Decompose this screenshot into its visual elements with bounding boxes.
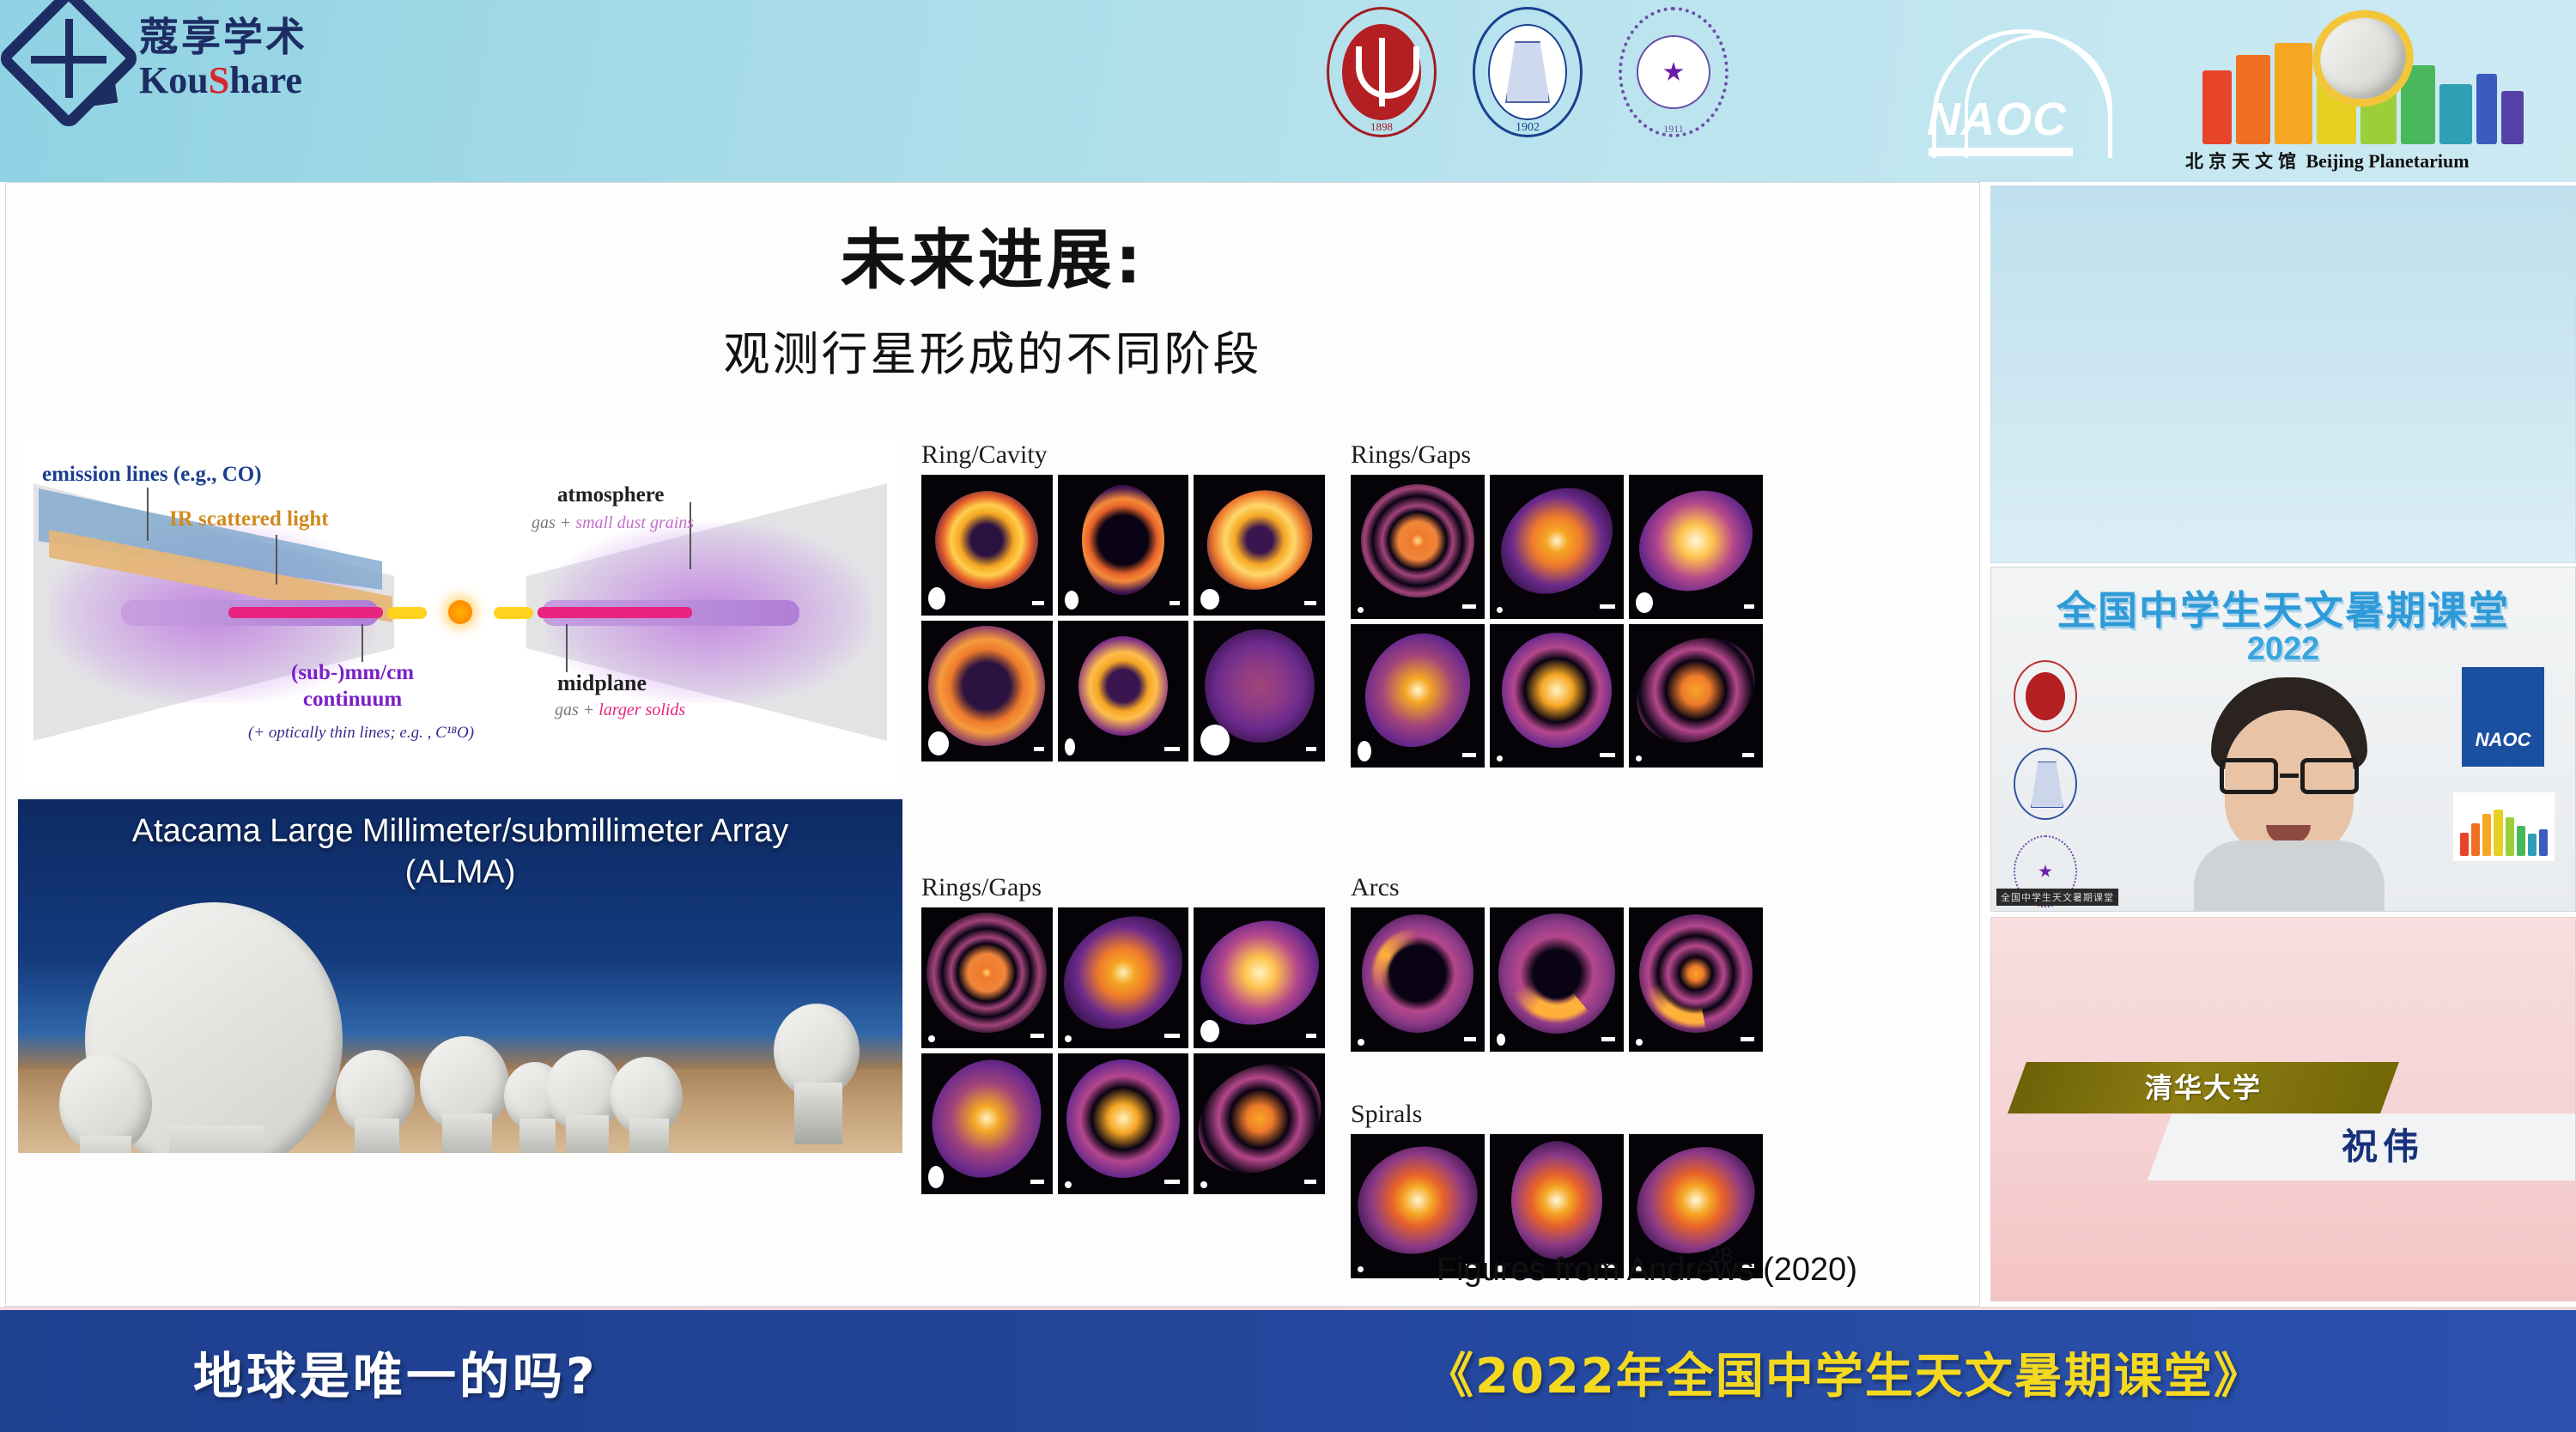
program-title: 《2022年全国中学生天文暑期课堂》 [1425,1338,2263,1407]
brand-name-cn: 蔻享学术 [139,17,307,57]
label-midplane: midplane [557,670,647,696]
mid-sub-b: larger solids [598,701,685,719]
disk-image[interactable] [1629,624,1763,768]
label-continuum-sub: (+ optically thin lines; e.g. , C¹⁸O) [248,724,474,743]
gallery-section-arcs: Arcs [1351,873,1763,1052]
bnu-seal-year: 1902 [1473,121,1583,135]
beijing-normal-university-seal-icon: 1902 [1473,7,1583,137]
video-naoc-label: NAOC [2476,729,2531,751]
disk-image[interactable] [1351,907,1485,1052]
planetarium-name-cn: 北京天文馆 [2185,151,2301,172]
label-atmosphere-sub: gas + small dust grains [532,513,694,533]
video-banner-year: 2022 [1991,631,2575,668]
disk-image[interactable] [1194,907,1325,1048]
disk-image[interactable] [1351,624,1485,768]
gallery-grid-arcs [1351,907,1763,1052]
brand-name-en: KouShare [139,62,307,100]
disk-image[interactable] [921,621,1053,762]
gallery-grid-rings-gaps-left [921,907,1325,1194]
figure-credit: Figures from Andrews (2020) [1437,1252,1857,1289]
disk-image[interactable] [1194,475,1325,616]
octagon-compass-icon [17,7,120,110]
disk-image[interactable] [1194,621,1325,762]
tsinghua-university-seal-icon: 1911 [1619,7,1728,137]
beijing-normal-university-seal-icon [2014,748,2077,820]
video-partner-seals [2014,660,2077,907]
disk-image[interactable] [1629,475,1763,619]
disk-image[interactable] [921,475,1053,616]
speaker-affiliation: 清华大学 [2017,1062,2390,1113]
label-midplane-sub: gas + larger solids [555,701,685,720]
naoc-logo: NAOC [2462,667,2544,767]
disk-image[interactable] [1490,475,1624,619]
alma-caption-line-1: Atacama Large Millimeter/submillimeter A… [18,811,902,853]
label-emission-lines: emission lines (e.g., CO) [42,463,262,487]
central-star-icon [448,600,472,624]
brand-en-part1: Kou [139,59,209,101]
atmo-sub-b: small dust grains [575,513,694,532]
disk-image[interactable] [1058,1053,1189,1194]
page-header: 蔻享学术 KouShare 1898 1902 1911 NAOC [0,0,2576,182]
presentation-slide[interactable]: 未来进展: 观测行星形成的不同阶段 emission lines (e.g., … [5,182,1980,1307]
atmo-sub-a: gas + [532,513,575,532]
speaker-name-banner: 祝伟 [2148,1113,2576,1180]
video-banner-title: 全国中学生天文暑期课堂 [1991,579,2575,636]
alma-caption: Atacama Large Millimeter/submillimeter A… [18,811,902,893]
protoplanetary-disk-schematic: emission lines (e.g., CO) IR scattered l… [18,440,902,784]
speaker-name: 祝伟 [2160,1113,2576,1180]
speaker-affiliation-banner: 清华大学 [2008,1062,2399,1113]
video-watermark: 全国中学生天文暑期课堂 [1996,889,2118,906]
gallery-grid-ring-cavity [921,475,1325,762]
thu-seal-year: 1911 [1619,123,1728,136]
planetarium-name-en: Beijing Planetarium [2306,150,2470,172]
partner-seals: 1898 1902 1911 [1327,7,1728,137]
gallery-section-rings-gaps-left: Rings/Gaps [921,873,1325,1194]
naoc-logo: NAOC [1923,15,2147,170]
alma-observatory-photo: Atacama Large Millimeter/submillimeter A… [18,799,902,1153]
disk-image[interactable] [921,1053,1053,1194]
disk-image[interactable] [921,907,1053,1048]
continuum-line-2: continuum [291,687,414,713]
alma-caption-line-2: (ALMA) [18,853,902,894]
gallery-label-spirals: Spirals [1351,1100,1763,1129]
gallery-section-ring-cavity: Ring/Cavity [921,440,1325,762]
peking-university-seal-icon: 1898 [1327,7,1437,137]
disk-image[interactable] [1058,621,1189,762]
beijing-planetarium-logo: 北京天文馆 Beijing Planetarium [2185,7,2555,179]
disk-image[interactable] [1629,907,1763,1052]
rail-blank-panel [1990,185,2576,563]
presenter-avatar [2190,677,2388,912]
disk-image[interactable] [1490,624,1624,768]
label-ir-scattered-light: IR scattered light [169,507,329,531]
page-footer: 地球是唯一的吗? 《2022年全国中学生天文暑期课堂》 [0,1310,2576,1432]
right-rail: 全国中学生天文暑期课堂 2022 NAOC [1984,182,2576,1307]
beijing-planetarium-logo [2453,792,2555,861]
speaker-video-panel[interactable]: 全国中学生天文暑期课堂 2022 NAOC [1990,567,2576,912]
peking-university-seal-icon [2014,660,2077,732]
andrews-disk-gallery: Ring/Cavity Rings/Gaps [921,440,1969,1299]
slide-title: 未来进展: [6,207,1979,301]
gallery-grid-rings-gaps-right [1351,475,1763,768]
gallery-label-ring-cavity: Ring/Cavity [921,440,1325,470]
koushare-logo[interactable]: 蔻享学术 KouShare [17,7,307,110]
naoc-label: NAOC [1927,93,2067,146]
disk-image[interactable] [1351,475,1485,619]
gallery-label-rings-gaps-right: Rings/Gaps [1351,440,1763,470]
lecture-player-stage: 蔻享学术 KouShare 1898 1902 1911 NAOC [0,0,2576,1432]
gallery-label-arcs: Arcs [1351,873,1763,902]
disk-image[interactable] [1194,1053,1325,1194]
slide-number: 28 [1708,1242,1733,1269]
pku-seal-year: 1898 [1327,120,1437,134]
lecture-title: 地球是唯一的吗? [193,1336,598,1408]
label-atmosphere: atmosphere [557,483,665,507]
label-continuum: (sub-)mm/cm continuum [291,660,414,713]
speaker-name-card: 清华大学 祝伟 [1990,917,2576,1302]
brand-en-part3: hare [229,59,302,101]
eyeglasses-icon [2220,758,2359,794]
gallery-label-rings-gaps-left: Rings/Gaps [921,873,1325,902]
disk-image[interactable] [1058,475,1189,616]
continuum-line-1: (sub-)mm/cm [291,660,414,687]
mid-sub-a: gas + [555,701,598,719]
disk-image[interactable] [1058,907,1189,1048]
brand-en-part2: S [209,59,229,101]
planetarium-caption: 北京天文馆 Beijing Planetarium [2185,148,2555,173]
disk-image[interactable] [1490,907,1624,1052]
slide-subtitle: 观测行星形成的不同阶段 [6,316,1979,384]
gallery-section-rings-gaps-right: Rings/Gaps [1351,440,1763,768]
